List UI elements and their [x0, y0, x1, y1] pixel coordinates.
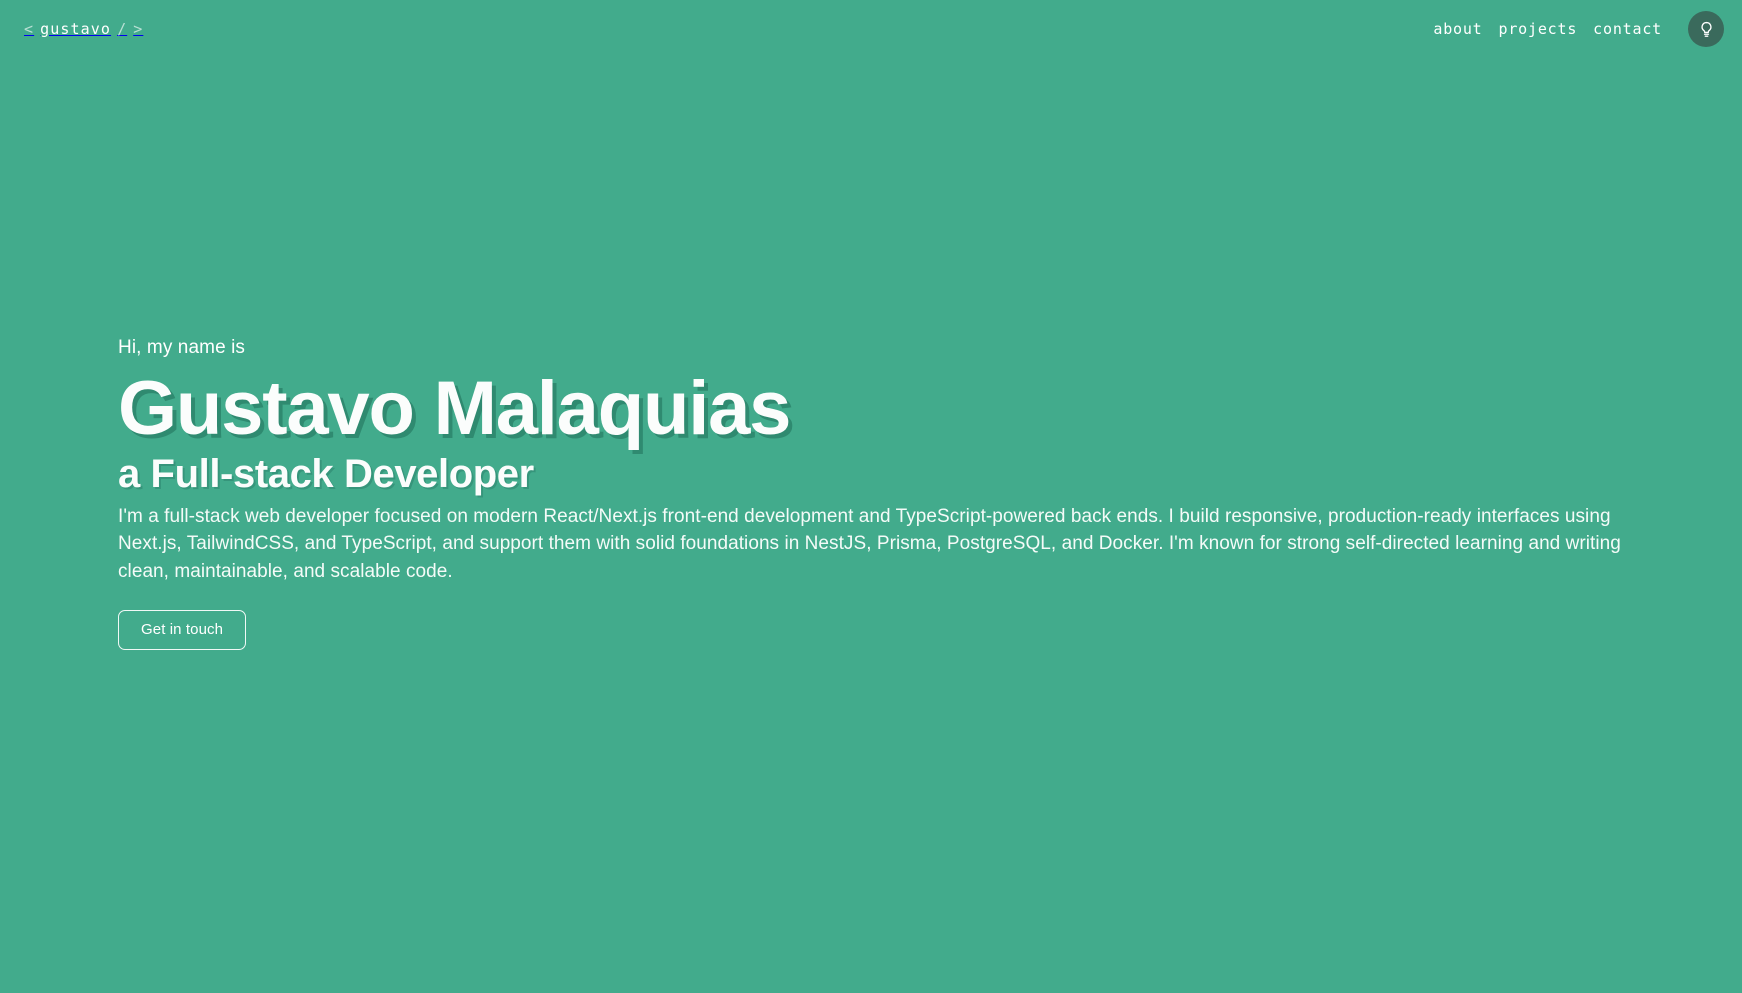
hero-role-heading: a Full-stack Developer [118, 452, 1628, 497]
nav-link-projects[interactable]: projects [1499, 20, 1578, 38]
navbar-right-group: about projects contact [1433, 11, 1724, 47]
hero-name-heading: Gustavo Malaquias [118, 369, 1628, 448]
hero-bio-text: I'm a full-stack web developer focused o… [118, 503, 1623, 586]
nav-links: about projects contact [1433, 20, 1662, 38]
hero-greeting: Hi, my name is [118, 336, 1628, 361]
hero-section: Hi, my name is Gustavo Malaquias a Full-… [118, 336, 1628, 650]
site-navbar: <gustavo/> about projects contact [0, 0, 1742, 58]
site-logo[interactable]: <gustavo/> [24, 20, 143, 38]
logo-close-bracket: > [133, 20, 143, 38]
logo-slash: / [117, 20, 127, 38]
get-in-touch-button[interactable]: Get in touch [118, 610, 246, 651]
logo-name: gustavo [40, 20, 111, 38]
nav-link-about[interactable]: about [1433, 20, 1482, 38]
lightbulb-icon [1697, 20, 1716, 39]
theme-toggle-button[interactable] [1688, 11, 1724, 47]
nav-link-contact[interactable]: contact [1593, 20, 1662, 38]
logo-open-bracket: < [24, 20, 34, 38]
